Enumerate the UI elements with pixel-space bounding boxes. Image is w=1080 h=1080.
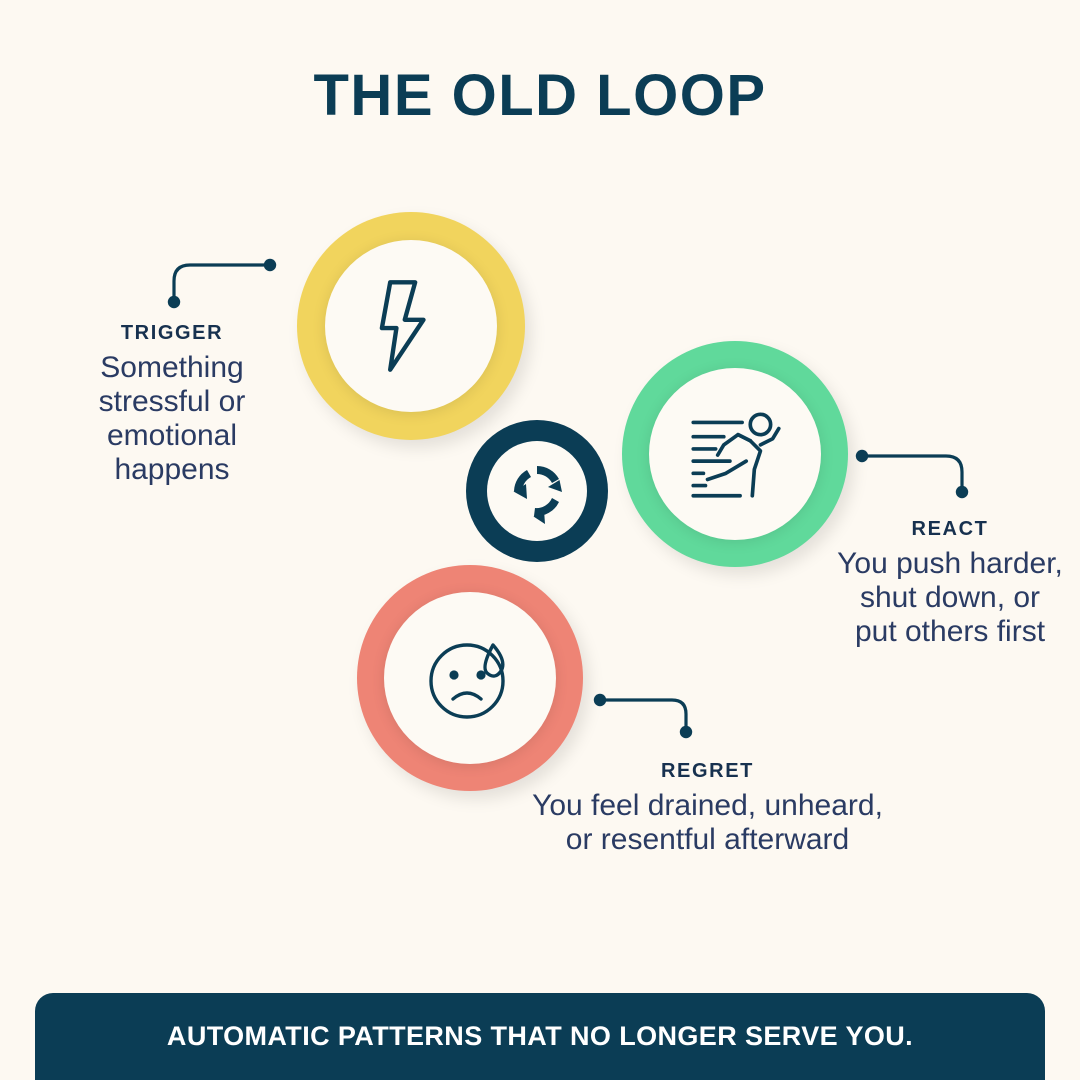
step-text-trigger: TRIGGER Something stressful or emotional… (56, 322, 288, 487)
infographic-canvas: THE OLD LOOP (0, 0, 1080, 1080)
step-label-regret: REGRET (520, 760, 895, 783)
step-icon-wrap-regret (384, 592, 556, 764)
page-title: THE OLD LOOP (0, 62, 1080, 129)
step-text-react: REACT You push harder, shut down, or put… (836, 518, 1064, 649)
sad-face-sweat-icon (415, 623, 525, 733)
step-label-react: REACT (836, 518, 1064, 541)
bottom-banner: AUTOMATIC PATTERNS THAT NO LONGER SERVE … (35, 993, 1045, 1080)
loop-hub[interactable] (466, 420, 608, 562)
connector-regret (588, 688, 708, 750)
step-icon-wrap-react (649, 368, 821, 540)
step-body-trigger: Something stressful or emotional happens (56, 351, 288, 487)
step-body-react: You push harder, shut down, or put other… (836, 547, 1064, 649)
connector-react (848, 442, 988, 512)
step-circle-trigger[interactable] (297, 212, 525, 440)
recycle-loop-icon (502, 456, 572, 526)
step-text-regret: REGRET You feel drained, unheard, or res… (520, 760, 895, 857)
loop-hub-inner (487, 441, 587, 541)
step-body-regret: You feel drained, unheard, or resentful … (520, 789, 895, 857)
lightning-bolt-icon (359, 274, 463, 378)
banner-text: AUTOMATIC PATTERNS THAT NO LONGER SERVE … (167, 1021, 913, 1052)
running-person-icon (679, 398, 791, 510)
connector-trigger (150, 250, 290, 320)
step-icon-wrap-trigger (325, 240, 497, 412)
step-circle-react[interactable] (622, 341, 848, 567)
step-circle-regret[interactable] (357, 565, 583, 791)
step-label-trigger: TRIGGER (56, 322, 288, 345)
